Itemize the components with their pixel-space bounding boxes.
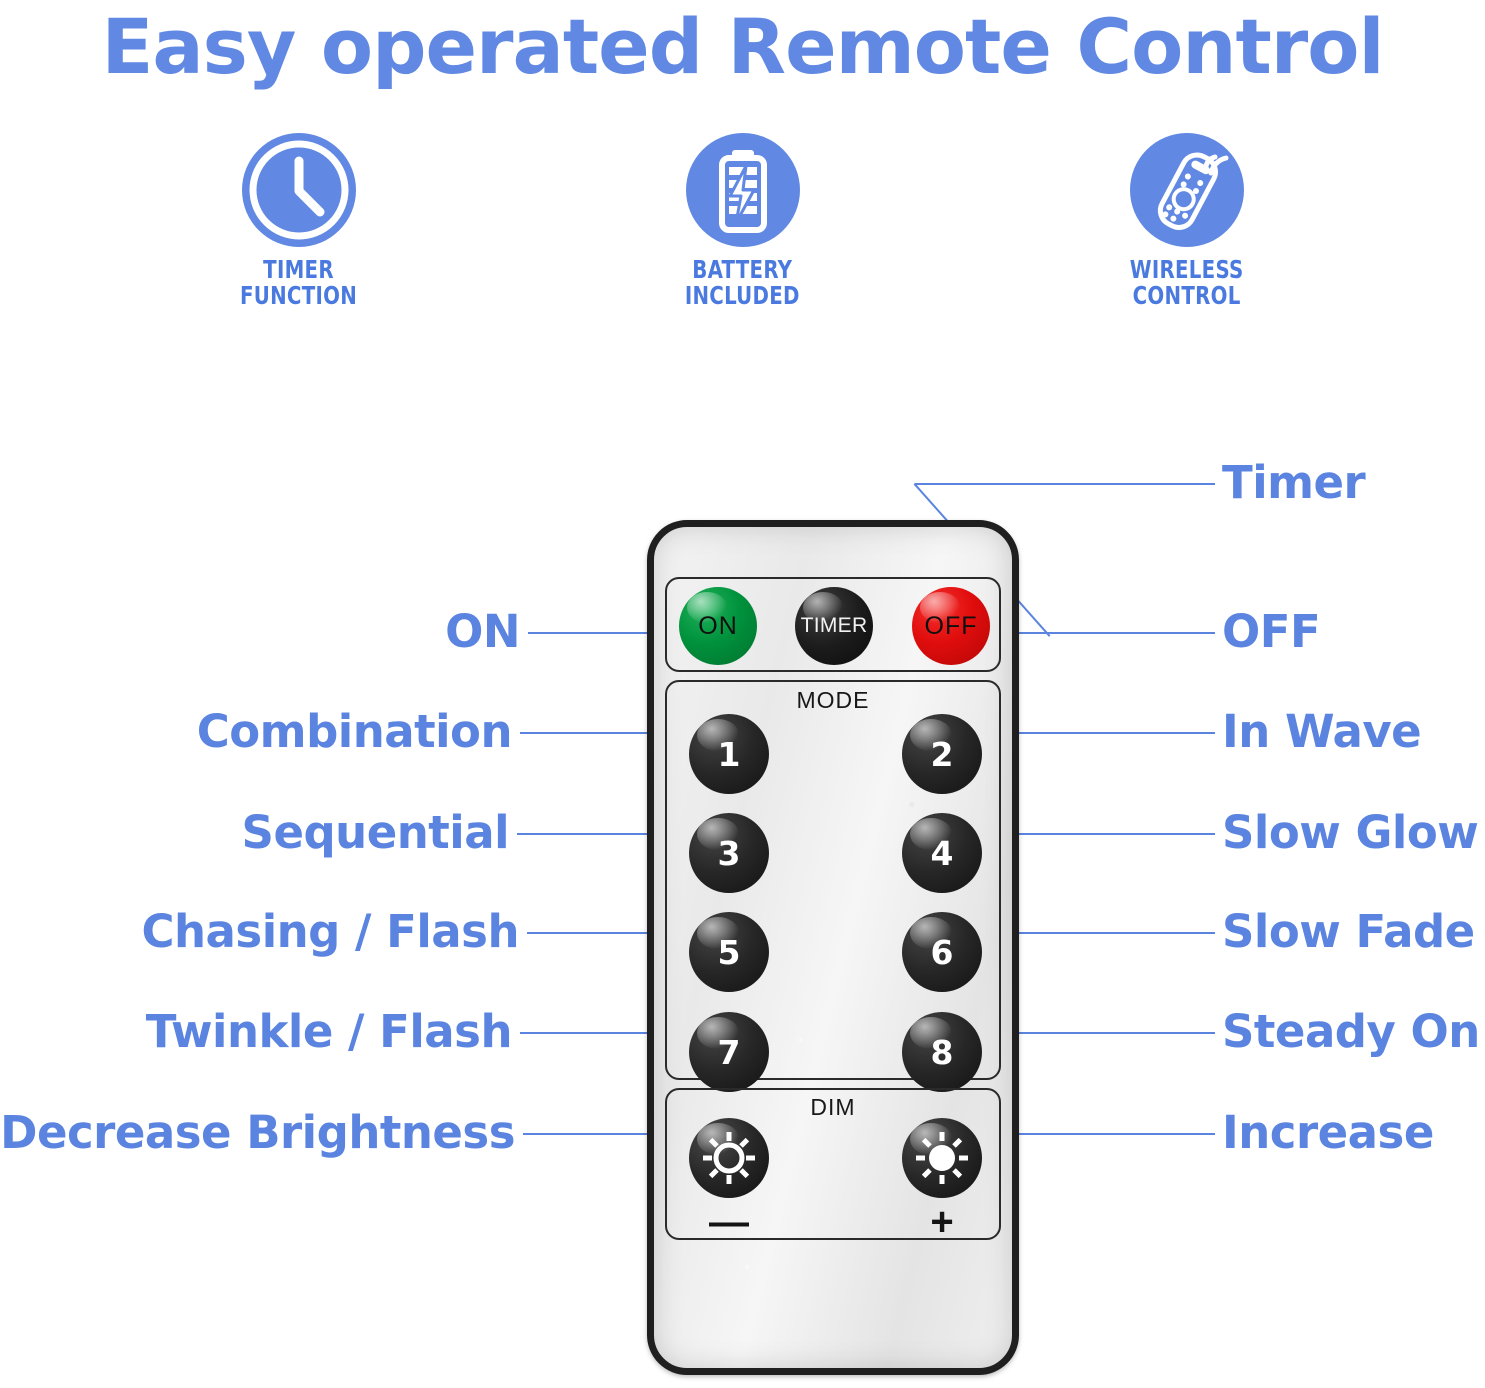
feature-badge-row: TIMER FUNCTION BATTERY INCLUDED <box>0 133 1485 308</box>
mode-button-3[interactable]: 3 <box>689 813 769 893</box>
callout-steady-on: Steady On <box>1222 1005 1480 1058</box>
feature-label-line2: FUNCTION <box>240 281 357 310</box>
dim-button-panel: DIM <box>665 1088 1001 1240</box>
remote-control-device: ON TIMER OFF MODE 1 2 3 4 5 6 7 8 DIM <box>647 520 1019 1375</box>
callout-twinkle-flash: Twinkle / Flash <box>0 1005 512 1058</box>
callout-decrease-brightness: Decrease Brightness <box>0 1106 515 1159</box>
lead-line-timer-horizontal <box>915 483 1215 485</box>
mode-button-label: 2 <box>931 735 954 774</box>
page-title: Easy operated Remote Control <box>0 2 1485 91</box>
callout-in-wave: In Wave <box>1222 705 1421 758</box>
mode-button-label: 7 <box>718 1033 741 1072</box>
mode-button-label: 6 <box>931 933 954 972</box>
dim-panel-caption: DIM <box>667 1094 999 1121</box>
timer-button-label: TIMER <box>801 614 868 638</box>
mode-button-label: 4 <box>931 834 954 873</box>
callout-combination: Combination <box>0 705 512 758</box>
mode-button-label: 5 <box>718 933 741 972</box>
mode-button-8[interactable]: 8 <box>902 1012 982 1092</box>
mode-button-label: 1 <box>718 735 741 774</box>
callout-off: OFF <box>1222 605 1320 658</box>
feature-label-battery: BATTERY INCLUDED <box>685 257 800 308</box>
callout-slow-fade: Slow Fade <box>1222 905 1475 958</box>
timer-button[interactable]: TIMER <box>795 587 873 665</box>
brightness-high-icon[interactable] <box>902 1118 982 1198</box>
feature-label-timer: TIMER FUNCTION <box>240 257 357 308</box>
mode-button-5[interactable]: 5 <box>689 912 769 992</box>
callout-sequential: Sequential <box>0 806 509 859</box>
feature-battery-included: BATTERY INCLUDED <box>628 133 858 308</box>
mode-button-label: 8 <box>931 1033 954 1072</box>
brightness-low-icon[interactable] <box>689 1118 769 1198</box>
dim-decrease-sign: — <box>689 1202 769 1242</box>
off-button-label: OFF <box>925 612 978 641</box>
mode-button-label: 3 <box>718 834 741 873</box>
on-button-label: ON <box>698 612 738 641</box>
remote-icon <box>1130 133 1244 247</box>
dim-increase-sign: + <box>902 1202 982 1242</box>
feature-label-wireless: WIRELESS CONTROL <box>1130 257 1244 308</box>
power-button-panel: ON TIMER OFF <box>665 577 1001 672</box>
callout-increase: Increase <box>1222 1106 1434 1159</box>
feature-label-line2: INCLUDED <box>685 281 800 310</box>
callout-on: ON <box>0 605 520 658</box>
mode-button-panel: MODE 1 2 3 4 5 6 7 8 <box>665 680 1001 1080</box>
callout-chasing-flash: Chasing / Flash <box>0 905 519 958</box>
feature-label-line2: CONTROL <box>1133 281 1241 310</box>
clock-icon <box>242 133 356 247</box>
mode-button-4[interactable]: 4 <box>902 813 982 893</box>
feature-wireless-control: WIRELESS CONTROL <box>1072 133 1302 308</box>
mode-button-7[interactable]: 7 <box>689 1012 769 1092</box>
callout-slow-glow: Slow Glow <box>1222 806 1478 859</box>
mode-button-1[interactable]: 1 <box>689 714 769 794</box>
feature-timer-function: TIMER FUNCTION <box>184 133 414 308</box>
battery-icon <box>686 133 800 247</box>
mode-button-6[interactable]: 6 <box>902 912 982 992</box>
callout-timer: Timer <box>1222 456 1365 509</box>
on-button[interactable]: ON <box>679 587 757 665</box>
off-button[interactable]: OFF <box>912 587 990 665</box>
mode-button-2[interactable]: 2 <box>902 714 982 794</box>
mode-panel-caption: MODE <box>667 687 999 714</box>
